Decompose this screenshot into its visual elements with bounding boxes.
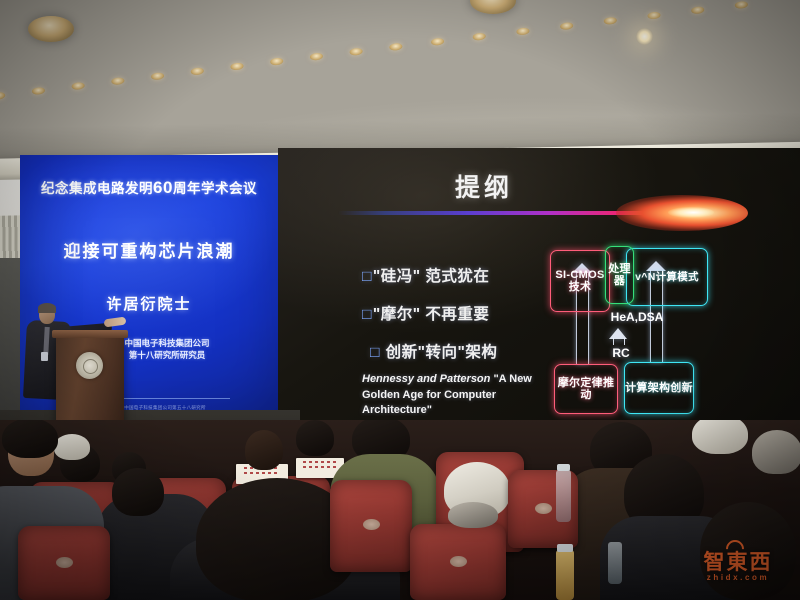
bottle-cap	[557, 544, 573, 552]
banner-title-suffix: 周年学术会议	[173, 181, 257, 196]
banner-title: 纪念集成电路发明60周年学术会议	[20, 177, 278, 198]
diagram-box-architecture: 计算架构创新	[624, 362, 694, 414]
bullet-marker-icon: □	[362, 268, 372, 285]
slide-bullet-3: □ 创新"转向"架构	[362, 334, 552, 372]
slide-bullet-list: □"硅冯" 范式犹在 □"摩尔" 不再重要 □ 创新"转向"架构	[362, 258, 552, 372]
diagram-box-processor: 处理器	[605, 246, 634, 304]
beverage-bottle	[556, 550, 574, 600]
conference-photo: 纪念集成电路发明60周年学术会议 迎接可重构芯片浪潮 许居衍院士 中国电子科技集…	[0, 0, 800, 600]
speaker-hair	[38, 303, 56, 313]
bullet-marker-icon: □	[370, 344, 380, 361]
banner-subtitle: 迎接可重构芯片浪潮	[20, 237, 278, 262]
arrow-rc-stem	[613, 338, 625, 345]
slide-comet-divider	[338, 196, 748, 230]
slide-diagram: SI-CMOS技术 v^N计算模式 处理器 HeA,DSA RC 摩尔定律推动 …	[548, 248, 728, 420]
watermark-domain: zhidx.com	[686, 573, 790, 582]
auditorium-seat	[330, 480, 412, 572]
audience-head	[112, 468, 164, 516]
citation-authors: Hennessy and Patterson	[362, 373, 490, 385]
podium-emblem	[76, 352, 103, 379]
diagram-mid-label: HeA,DSA	[582, 310, 692, 324]
ceiling-spotlight-left	[28, 16, 74, 42]
audience-area	[0, 420, 800, 600]
audience-head	[2, 420, 58, 458]
slide-bullet-2: □"摩尔" 不再重要	[362, 296, 552, 334]
audience-head	[296, 420, 334, 456]
podium-top	[52, 330, 128, 338]
audience-head	[245, 430, 283, 470]
bottle-cap	[557, 464, 570, 471]
audience-head	[448, 502, 498, 528]
banner-title-prefix: 纪念集成电路发明	[41, 181, 153, 196]
bullet-text-2: "摩尔" 不再重要	[373, 306, 490, 323]
slide-citation: Hennessy and Patterson "A New Golden Age…	[362, 372, 534, 419]
water-bottle	[608, 542, 622, 584]
watermark-logo-text: 智東西	[686, 546, 790, 576]
diagram-box-moore: 摩尔定律推动	[554, 364, 618, 414]
watermark: 智東西 zhidx.com	[686, 546, 790, 590]
diagram-rc-label: RC	[586, 346, 656, 360]
audience-head	[54, 434, 90, 460]
comet-core	[668, 207, 714, 218]
auditorium-seat	[18, 526, 110, 600]
bullet-marker-icon: □	[362, 306, 372, 323]
speaker-badge	[41, 352, 48, 361]
bullet-text-1: "硅冯" 范式犹在	[373, 268, 490, 285]
banner-title-number: 60	[153, 178, 173, 197]
water-bottle	[556, 470, 571, 522]
auditorium-seat	[410, 524, 506, 600]
bullet-text-3: 创新"转向"架构	[381, 344, 498, 361]
ceiling-downlight-lit	[636, 28, 653, 45]
diagram-box-sicmos: SI-CMOS技术	[550, 250, 610, 312]
audience-head	[692, 420, 748, 454]
diagram-box-von-neumann: v^N计算模式	[626, 248, 708, 306]
slide-bullet-1: □"硅冯" 范式犹在	[362, 258, 552, 296]
audience-head	[752, 430, 800, 474]
banner-speaker-name: 许居衍院士	[20, 293, 278, 314]
